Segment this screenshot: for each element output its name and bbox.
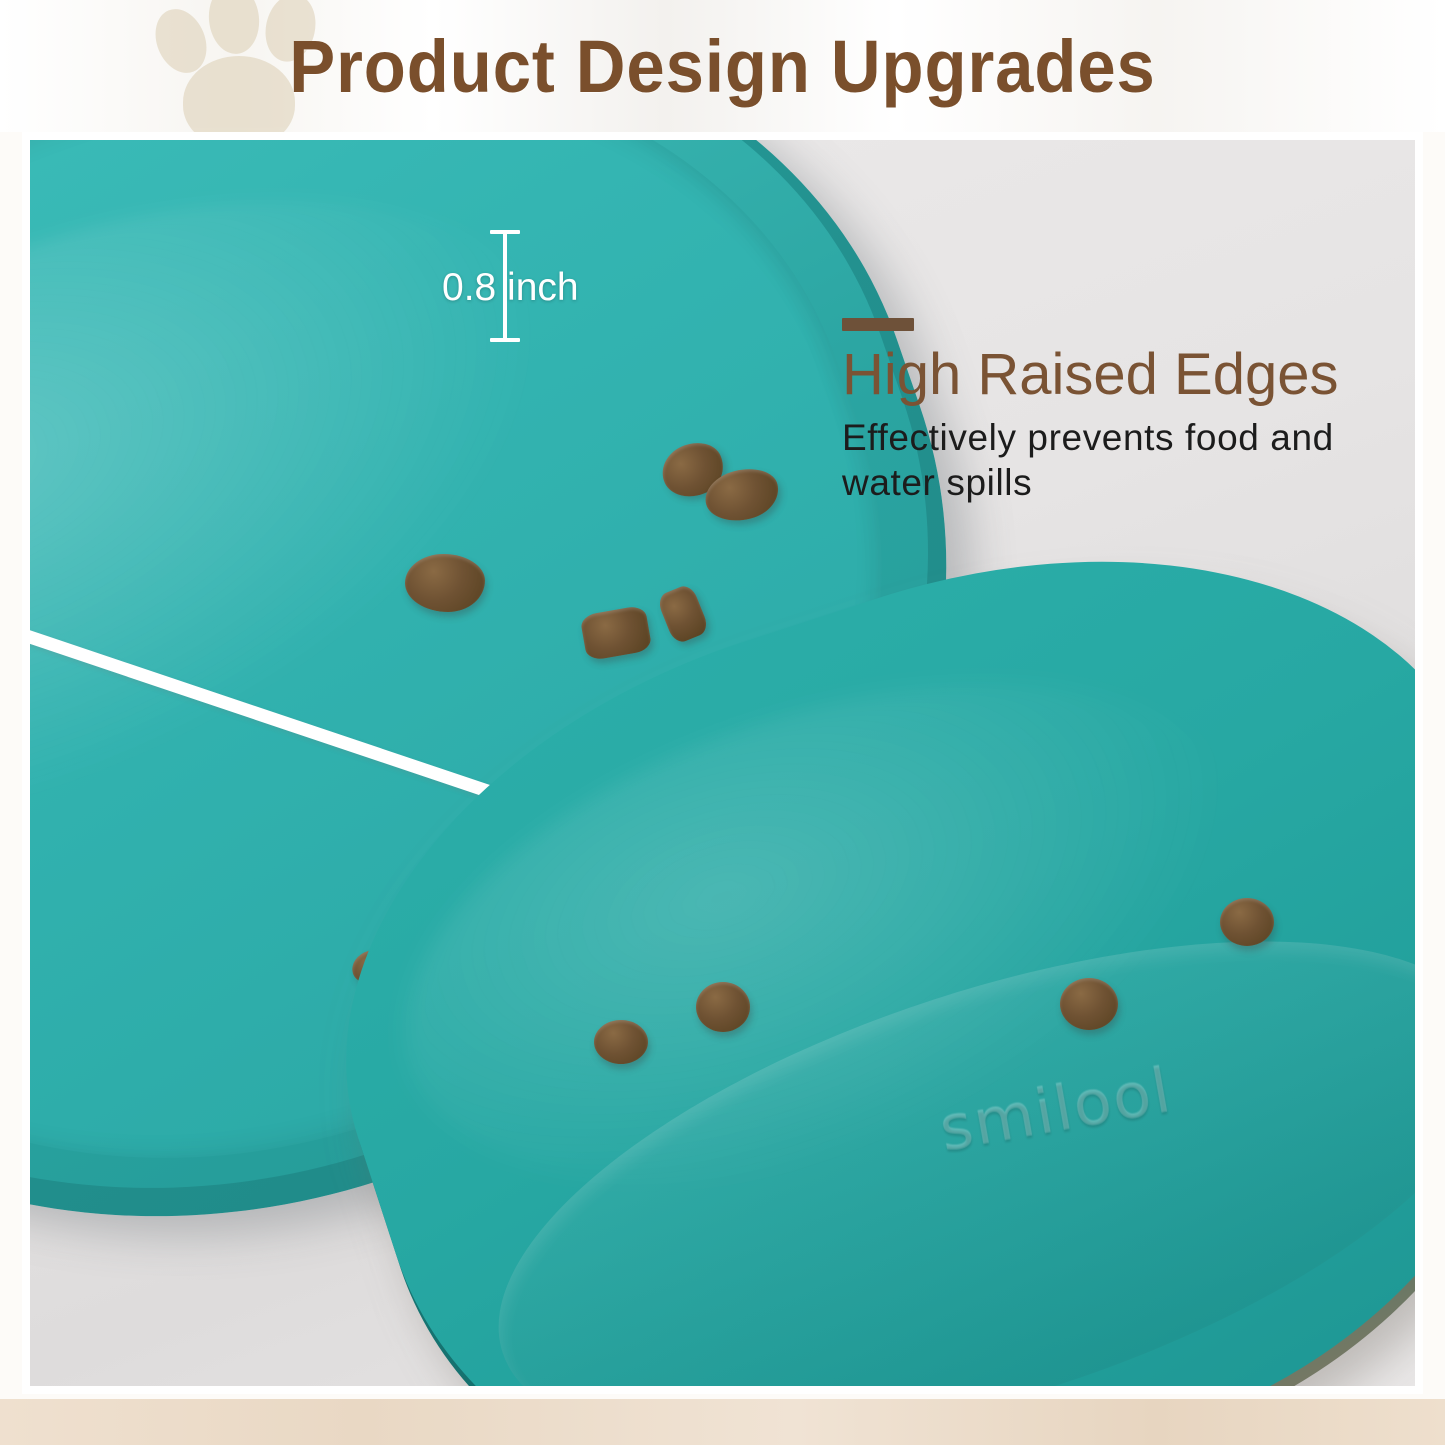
dimension-cap-bottom [490, 338, 520, 342]
feature-subtext: Effectively prevents food and water spil… [842, 415, 1415, 505]
photo-frame: smilool 0.8 inch High Raised Edges Effec… [22, 132, 1423, 1394]
header-band: Product Design Upgrades [0, 0, 1445, 132]
bottom-accent-strip [0, 1399, 1445, 1445]
dimension-label: 0.8 inch [442, 268, 579, 307]
kibble-piece [1220, 898, 1274, 946]
product-infographic: Product Design Upgrades [0, 0, 1445, 1445]
feature-high-raised-edges: High Raised Edges Effectively prevents f… [842, 318, 1415, 506]
accent-dash-icon [842, 318, 914, 331]
kibble-piece [594, 1020, 648, 1064]
kibble-piece [1060, 978, 1118, 1030]
page-title: Product Design Upgrades [51, 0, 1395, 132]
dimension-callout: 0.8 inch [446, 230, 616, 360]
product-photo: smilool 0.8 inch High Raised Edges Effec… [30, 140, 1415, 1386]
kibble-piece [696, 982, 750, 1032]
kibble-piece [405, 554, 485, 612]
feature-heading: High Raised Edges [842, 345, 1415, 405]
